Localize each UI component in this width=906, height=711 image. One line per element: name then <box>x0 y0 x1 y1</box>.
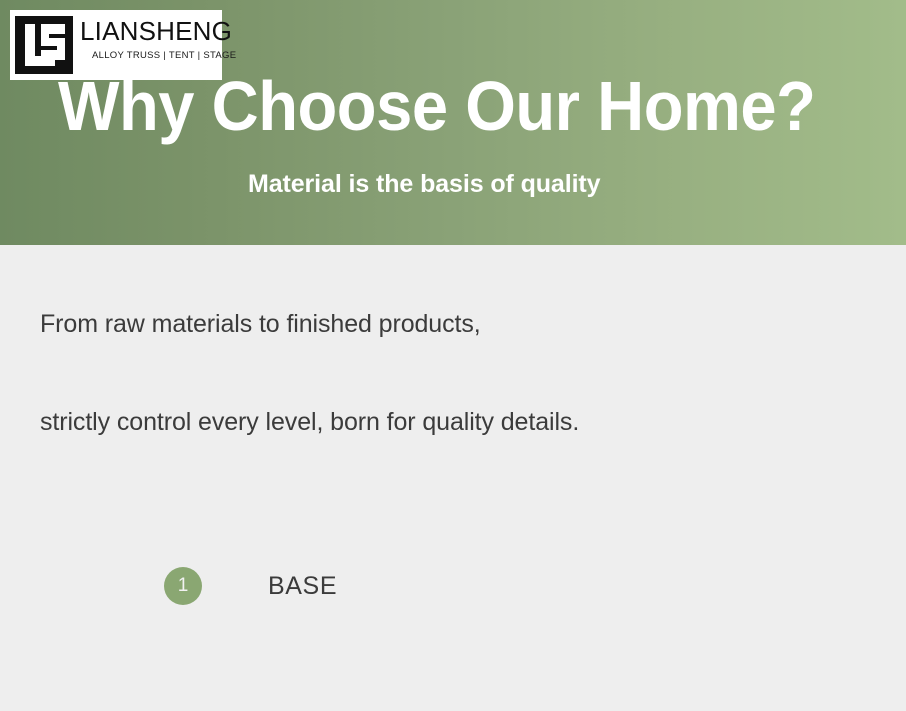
page-title: Why Choose Our Home? <box>58 68 815 144</box>
body-paragraph-line-1: From raw materials to finished products, <box>40 308 481 340</box>
body-content: From raw materials to finished products,… <box>0 245 906 711</box>
body-paragraph-line-2: strictly control every level, born for q… <box>40 406 579 438</box>
list-item-label: BASE <box>268 572 337 601</box>
ls-monogram-icon <box>15 16 73 74</box>
logo-wordmark: LIANSHENG <box>80 17 220 46</box>
list-item: 1 BASE <box>164 567 337 605</box>
page-subtitle: Material is the basis of quality <box>248 168 600 200</box>
step-number-badge: 1 <box>164 567 202 605</box>
logo-text-block: LIANSHENG ALLOY TRUSS | TENT | STAGE <box>80 17 220 62</box>
slide-root: LIANSHENG ALLOY TRUSS | TENT | STAGE Why… <box>0 0 906 711</box>
header-banner: LIANSHENG ALLOY TRUSS | TENT | STAGE Why… <box>0 0 906 245</box>
logo-tagline: ALLOY TRUSS | TENT | STAGE <box>80 49 220 62</box>
